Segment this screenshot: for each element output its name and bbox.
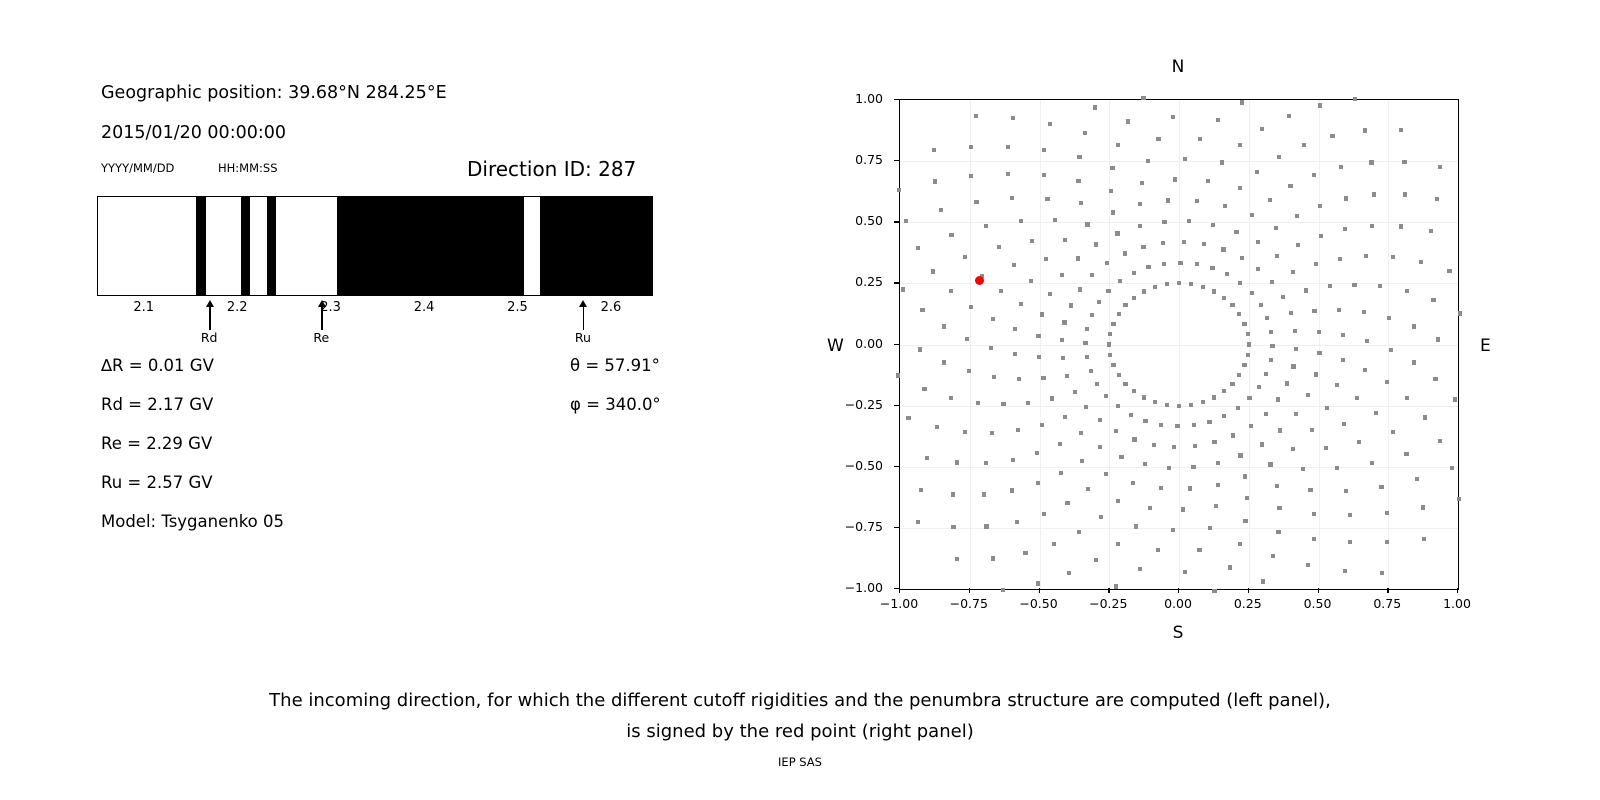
scatter-point bbox=[1364, 254, 1368, 258]
scatter-point bbox=[1116, 499, 1120, 503]
scatter-point bbox=[1013, 352, 1017, 356]
scatter-point bbox=[1264, 412, 1268, 416]
scatter-point bbox=[1370, 224, 1374, 228]
scatter-point bbox=[1085, 222, 1089, 226]
y-axis-tick-label: 0.00 bbox=[855, 336, 883, 351]
scatter-point bbox=[1212, 440, 1216, 444]
scatter-point bbox=[974, 200, 978, 204]
scatter-point bbox=[1238, 281, 1242, 285]
scatter-point bbox=[1256, 240, 1260, 244]
scatter-point bbox=[1060, 273, 1064, 277]
penumbra-tick-label: 2.1 bbox=[133, 300, 154, 315]
x-axis-tick-mark bbox=[1039, 588, 1040, 593]
scatter-point bbox=[1447, 269, 1451, 273]
scatter-point bbox=[1210, 266, 1214, 270]
scatter-point bbox=[1391, 430, 1395, 434]
scatter-point bbox=[1318, 103, 1322, 107]
scatter-point-inner-ring bbox=[1212, 395, 1216, 399]
scatter-point bbox=[1001, 588, 1005, 592]
time-format-hint: HH:MM:SS bbox=[218, 161, 278, 175]
scatter-point bbox=[1268, 198, 1272, 202]
penumbra-marker-rd: Rd bbox=[209, 296, 210, 330]
scatter-point bbox=[1114, 584, 1118, 588]
scatter-point bbox=[1104, 394, 1108, 398]
scatter-point bbox=[1078, 287, 1082, 291]
scatter-point bbox=[1429, 229, 1433, 233]
scatter-point bbox=[1415, 477, 1419, 481]
scatter-point bbox=[1069, 303, 1073, 307]
scatter-point bbox=[1115, 231, 1119, 235]
scatter-point bbox=[1245, 496, 1249, 500]
scatter-point bbox=[1363, 128, 1367, 132]
scatter-point bbox=[1247, 396, 1251, 400]
scatter-point bbox=[1084, 405, 1088, 409]
scatter-point bbox=[1216, 118, 1220, 122]
caption-line-1: The incoming direction, for which the di… bbox=[0, 685, 1600, 716]
scatter-point bbox=[1422, 537, 1426, 541]
scatter-point-inner-ring bbox=[1230, 303, 1234, 307]
scatter-point-inner-ring bbox=[1107, 342, 1111, 346]
scatter-point bbox=[1167, 466, 1171, 470]
scatter-point bbox=[1403, 192, 1407, 196]
y-axis-tick-mark bbox=[894, 160, 899, 161]
arrow-shaft bbox=[209, 305, 210, 330]
scatter-point bbox=[1225, 272, 1229, 276]
x-axis-tick-mark bbox=[1387, 588, 1388, 593]
scatter-point bbox=[935, 425, 939, 429]
scatter-point bbox=[1412, 360, 1416, 364]
x-axis-tick-mark bbox=[1108, 588, 1109, 593]
scatter-point bbox=[1090, 313, 1094, 317]
penumbra-black-band bbox=[267, 197, 276, 295]
y-axis-tick-label: −0.75 bbox=[845, 519, 883, 534]
scatter-point bbox=[1036, 334, 1040, 338]
x-axis-tick-label: 0.75 bbox=[1373, 596, 1401, 611]
scatter-point bbox=[1059, 471, 1063, 475]
scatter-point bbox=[1314, 372, 1318, 376]
scatter-point bbox=[1172, 445, 1176, 449]
scatter-point bbox=[1080, 459, 1084, 463]
scatter-point bbox=[1324, 446, 1328, 450]
scatter-point bbox=[1195, 199, 1199, 203]
scatter-point bbox=[1012, 263, 1016, 267]
scatter-point bbox=[1214, 504, 1218, 508]
scatter-point-inner-ring bbox=[1123, 382, 1127, 386]
scatter-point bbox=[1370, 461, 1374, 465]
x-axis-tick-label: −0.25 bbox=[1089, 596, 1127, 611]
scatter-point bbox=[1061, 356, 1065, 360]
scatter-point-inner-ring bbox=[1189, 403, 1193, 407]
scatter-point bbox=[951, 525, 955, 529]
scatter-point bbox=[969, 174, 973, 178]
scatter-point bbox=[1269, 358, 1273, 362]
scatter-point bbox=[1228, 565, 1232, 569]
scatter-point-inner-ring bbox=[1142, 289, 1146, 293]
x-axis-tick-mark bbox=[899, 588, 900, 593]
y-axis-tick-label: −1.00 bbox=[845, 580, 883, 595]
scatter-point bbox=[1208, 526, 1212, 530]
scatter-point bbox=[1339, 165, 1343, 169]
scatter-point-inner-ring bbox=[1246, 353, 1250, 357]
scatter-point bbox=[1312, 512, 1316, 516]
compass-label-south: S bbox=[1173, 623, 1184, 643]
scatter-point-inner-ring bbox=[1165, 403, 1169, 407]
scatter-point bbox=[984, 461, 988, 465]
scatter-point bbox=[1010, 196, 1014, 200]
scatter-point-inner-ring bbox=[1117, 312, 1121, 316]
scatter-point bbox=[901, 287, 905, 291]
scatter-point bbox=[984, 524, 988, 528]
scatter-point bbox=[1222, 414, 1226, 418]
scatter-point bbox=[1040, 312, 1044, 316]
scatter-point bbox=[1090, 273, 1094, 277]
scatter-point bbox=[1249, 424, 1253, 428]
gridline-horizontal bbox=[900, 467, 1458, 468]
scatter-point bbox=[1419, 260, 1423, 264]
scatter-point bbox=[1083, 341, 1087, 345]
scatter-point bbox=[1197, 548, 1201, 552]
scatter-point bbox=[1029, 279, 1033, 283]
scatter-point bbox=[963, 430, 967, 434]
scatter-point bbox=[999, 289, 1003, 293]
scatter-point bbox=[1457, 497, 1461, 501]
scatter-point bbox=[1138, 567, 1142, 571]
scatter-point bbox=[1275, 484, 1279, 488]
scatter-point-inner-ring bbox=[1177, 281, 1181, 285]
scatter-point bbox=[1077, 155, 1081, 159]
scatter-point bbox=[1094, 558, 1098, 562]
scatter-point-inner-ring bbox=[1153, 285, 1157, 289]
scatter-point bbox=[1187, 219, 1191, 223]
scatter-point-inner-ring bbox=[1165, 282, 1169, 286]
scatter-plot-area bbox=[899, 99, 1459, 590]
scatter-point bbox=[1079, 201, 1083, 205]
scatter-point bbox=[1062, 320, 1066, 324]
scatter-point bbox=[1195, 262, 1199, 266]
scatter-point bbox=[1156, 137, 1160, 141]
scatter-point bbox=[1306, 563, 1310, 567]
scatter-point bbox=[1365, 339, 1369, 343]
gridline-horizontal bbox=[900, 161, 1458, 162]
scatter-point bbox=[1391, 255, 1395, 259]
scatter-point bbox=[1278, 428, 1282, 432]
scatter-point bbox=[1216, 461, 1220, 465]
scatter-point bbox=[1277, 155, 1281, 159]
scatter-point bbox=[1048, 292, 1052, 296]
scatter-point bbox=[1058, 442, 1062, 446]
scatter-point bbox=[1143, 462, 1147, 466]
scatter-point bbox=[1453, 397, 1457, 401]
scatter-point bbox=[1173, 177, 1177, 181]
scatter-point bbox=[1341, 358, 1345, 362]
scatter-point bbox=[1312, 537, 1316, 541]
penumbra-black-band bbox=[337, 197, 524, 295]
scatter-point bbox=[1216, 483, 1220, 487]
scatter-point bbox=[1138, 202, 1142, 206]
scatter-point bbox=[1138, 224, 1142, 228]
scatter-point bbox=[1067, 571, 1071, 575]
x-axis-tick-label: 1.00 bbox=[1443, 596, 1471, 611]
penumbra-marker-ru: Ru bbox=[583, 296, 584, 330]
compass-label-north: N bbox=[1172, 57, 1185, 77]
scatter-point bbox=[1089, 369, 1093, 373]
scatter-point bbox=[925, 456, 929, 460]
y-axis-tick-label: −0.25 bbox=[845, 397, 883, 412]
scatter-point bbox=[967, 369, 971, 373]
scatter-point-inner-ring bbox=[1246, 332, 1250, 336]
scatter-point bbox=[1318, 204, 1322, 208]
scatter-point bbox=[904, 219, 908, 223]
scatter-point-inner-ring bbox=[1111, 363, 1115, 367]
scatter-point bbox=[984, 224, 988, 228]
scatter-point bbox=[1378, 284, 1382, 288]
scatter-point-inner-ring bbox=[1132, 389, 1136, 393]
scatter-point bbox=[1097, 300, 1101, 304]
scatter-point bbox=[1143, 419, 1147, 423]
scatter-point bbox=[1118, 279, 1122, 283]
scatter-point bbox=[1193, 444, 1197, 448]
scatter-point bbox=[990, 431, 994, 435]
scatter-point bbox=[906, 416, 910, 420]
scatter-point bbox=[1013, 327, 1017, 331]
scatter-point bbox=[1380, 571, 1384, 575]
scatter-point bbox=[1221, 247, 1225, 251]
scatter-point bbox=[1412, 324, 1416, 328]
scatter-point bbox=[1238, 453, 1242, 457]
scatter-point bbox=[1085, 327, 1089, 331]
caption-line-2: is signed by the red point (right panel) bbox=[0, 716, 1600, 747]
scatter-point bbox=[1156, 548, 1160, 552]
x-axis-tick-mark bbox=[1318, 588, 1319, 593]
penumbra-black-band bbox=[241, 197, 250, 295]
scatter-point bbox=[1104, 472, 1108, 476]
scatter-point-inner-ring bbox=[1242, 363, 1246, 367]
scatter-point bbox=[931, 269, 935, 273]
scatter-point bbox=[1109, 189, 1113, 193]
scatter-point bbox=[1159, 486, 1163, 490]
scatter-point bbox=[1134, 524, 1138, 528]
scatter-point bbox=[1045, 197, 1049, 201]
scatter-point bbox=[969, 305, 973, 309]
gridline-horizontal bbox=[900, 345, 1458, 346]
scatter-point bbox=[1255, 170, 1259, 174]
scatter-point bbox=[1206, 179, 1210, 183]
scatter-point bbox=[1296, 243, 1300, 247]
scatter-point bbox=[932, 148, 936, 152]
scatter-point bbox=[1079, 431, 1083, 435]
scatter-point bbox=[1335, 383, 1339, 387]
scatter-point bbox=[1256, 267, 1260, 271]
scatter-point-inner-ring bbox=[1222, 296, 1226, 300]
scatter-point bbox=[991, 317, 995, 321]
scatter-point bbox=[949, 396, 953, 400]
scatter-point bbox=[1438, 165, 1442, 169]
x-axis-tick-mark bbox=[1178, 588, 1179, 593]
scatter-point bbox=[1343, 569, 1347, 573]
scatter-point bbox=[965, 337, 969, 341]
scatter-point bbox=[1011, 116, 1015, 120]
scatter-point bbox=[1405, 289, 1409, 293]
footer-credit: IEP SAS bbox=[0, 755, 1600, 769]
scatter-point bbox=[1048, 122, 1052, 126]
scatter-point bbox=[1355, 396, 1359, 400]
scatter-point bbox=[1399, 224, 1403, 228]
compass-label-east: E bbox=[1480, 336, 1491, 356]
penumbra-black-band bbox=[540, 197, 653, 295]
figure-caption: The incoming direction, for which the di… bbox=[0, 685, 1600, 747]
scatter-point bbox=[1188, 486, 1192, 490]
scatter-point bbox=[1119, 455, 1123, 459]
scatter-point-inner-ring bbox=[1230, 382, 1234, 386]
scatter-point bbox=[918, 347, 922, 351]
scatter-point bbox=[1132, 437, 1136, 441]
scatter-point bbox=[1431, 298, 1435, 302]
scatter-point-inner-ring bbox=[1237, 373, 1241, 377]
scatter-point bbox=[1291, 270, 1295, 274]
scatter-point bbox=[1341, 333, 1345, 337]
scatter-point-inner-ring bbox=[1108, 353, 1112, 357]
scatter-point bbox=[1181, 507, 1185, 511]
scatter-point bbox=[919, 488, 923, 492]
scatter-point bbox=[1023, 551, 1027, 555]
selected-direction-marker[interactable] bbox=[975, 276, 984, 285]
scatter-point bbox=[933, 179, 937, 183]
y-axis-tick-label: 1.00 bbox=[855, 91, 883, 106]
scatter-point bbox=[1265, 316, 1269, 320]
scatter-point bbox=[1399, 128, 1403, 132]
phi-value: φ = 340.0° bbox=[570, 395, 661, 414]
scatter-point bbox=[1238, 186, 1242, 190]
scatter-point bbox=[1270, 344, 1274, 348]
scatter-point bbox=[1260, 442, 1264, 446]
re-value: Re = 2.29 GV bbox=[101, 434, 212, 453]
scatter-point bbox=[1132, 271, 1136, 275]
model-value: Model: Tsyganenko 05 bbox=[101, 512, 284, 531]
scatter-point bbox=[1182, 240, 1186, 244]
penumbra-marker-label: Ru bbox=[575, 330, 591, 345]
datetime-text: 2015/01/20 00:00:00 bbox=[101, 123, 286, 143]
scatter-point bbox=[1053, 218, 1057, 222]
scatter-point bbox=[1344, 489, 1348, 493]
scatter-point bbox=[1385, 540, 1389, 544]
scatter-point bbox=[1231, 433, 1235, 437]
scatter-point bbox=[1362, 310, 1366, 314]
scatter-point bbox=[1281, 295, 1285, 299]
scatter-point bbox=[896, 373, 900, 377]
scatter-point bbox=[1042, 173, 1046, 177]
scatter-point bbox=[1433, 377, 1437, 381]
scatter-point bbox=[1328, 284, 1332, 288]
scatter-point bbox=[920, 308, 924, 312]
direction-scatter-panel: N S W E −1.00−0.75−0.50−0.250.000.250.50… bbox=[790, 40, 1550, 660]
scatter-point bbox=[1402, 160, 1406, 164]
rd-value: Rd = 2.17 GV bbox=[101, 395, 213, 414]
y-axis-tick-mark bbox=[894, 344, 899, 345]
scatter-point bbox=[1141, 245, 1145, 249]
scatter-point bbox=[997, 245, 1001, 249]
scatter-point bbox=[1099, 515, 1103, 519]
scatter-point bbox=[1436, 337, 1440, 341]
scatter-point bbox=[1063, 238, 1067, 242]
scatter-point bbox=[991, 556, 995, 560]
scatter-point bbox=[1110, 166, 1114, 170]
scatter-point bbox=[1317, 351, 1321, 355]
penumbra-black-band bbox=[196, 197, 206, 295]
scatter-point bbox=[1098, 445, 1102, 449]
scatter-point bbox=[992, 375, 996, 379]
scatter-point bbox=[1314, 262, 1318, 266]
scatter-point bbox=[1083, 131, 1087, 135]
scatter-point bbox=[1178, 261, 1182, 265]
scatter-point bbox=[1236, 406, 1240, 410]
scatter-point bbox=[1435, 197, 1439, 201]
scatter-point bbox=[1343, 227, 1347, 231]
scatter-point bbox=[1312, 173, 1316, 177]
scatter-point bbox=[1019, 219, 1023, 223]
scatter-point bbox=[1129, 413, 1133, 417]
scatter-point bbox=[1146, 265, 1150, 269]
arrow-up-icon bbox=[206, 300, 214, 307]
y-axis-tick-mark bbox=[894, 221, 899, 222]
scatter-point bbox=[1276, 397, 1280, 401]
scatter-point bbox=[1030, 239, 1034, 243]
scatter-point bbox=[976, 401, 980, 405]
scatter-point bbox=[1073, 390, 1077, 394]
scatter-point bbox=[1076, 256, 1080, 260]
x-axis-tick-label: 0.00 bbox=[1164, 596, 1192, 611]
scatter-point bbox=[1086, 487, 1090, 491]
scatter-point bbox=[1405, 396, 1409, 400]
scatter-point bbox=[1111, 210, 1115, 214]
scatter-point bbox=[916, 246, 920, 250]
scatter-point bbox=[1306, 393, 1310, 397]
scatter-point bbox=[1095, 382, 1099, 386]
scatter-point bbox=[1240, 100, 1244, 104]
scatter-point bbox=[974, 114, 978, 118]
y-axis-tick-label: 0.50 bbox=[855, 213, 883, 228]
scatter-point-inner-ring bbox=[1132, 296, 1136, 300]
scatter-point bbox=[1042, 512, 1046, 516]
scatter-point bbox=[1220, 160, 1224, 164]
scatter-point bbox=[1458, 311, 1462, 315]
scatter-point bbox=[1250, 213, 1254, 217]
arrow-up-icon bbox=[579, 300, 587, 307]
scatter-point bbox=[1065, 374, 1069, 378]
scatter-point bbox=[1152, 443, 1156, 447]
y-axis-tick-label: −0.50 bbox=[845, 458, 883, 473]
scatter-point bbox=[1011, 458, 1015, 462]
scatter-point bbox=[1006, 172, 1010, 176]
scatter-point bbox=[1171, 528, 1175, 532]
scatter-point bbox=[1291, 364, 1295, 368]
penumbra-structure-bar bbox=[97, 196, 653, 296]
scatter-point bbox=[1352, 283, 1356, 287]
scatter-point bbox=[1126, 119, 1130, 123]
scatter-point bbox=[1257, 385, 1261, 389]
scatter-point bbox=[1060, 338, 1064, 342]
scatter-point bbox=[1207, 420, 1211, 424]
scatter-point bbox=[942, 324, 946, 328]
scatter-point bbox=[1094, 242, 1098, 246]
scatter-point bbox=[1105, 261, 1109, 265]
scatter-point bbox=[1116, 143, 1120, 147]
x-axis-tick-label: 0.50 bbox=[1304, 596, 1332, 611]
scatter-point-inner-ring bbox=[1117, 373, 1121, 377]
scatter-point-inner-ring bbox=[1247, 342, 1251, 346]
date-format-hint: YYYY/MM/DD bbox=[101, 161, 174, 175]
scatter-point-inner-ring bbox=[1153, 400, 1157, 404]
x-axis-tick-mark bbox=[969, 588, 970, 593]
